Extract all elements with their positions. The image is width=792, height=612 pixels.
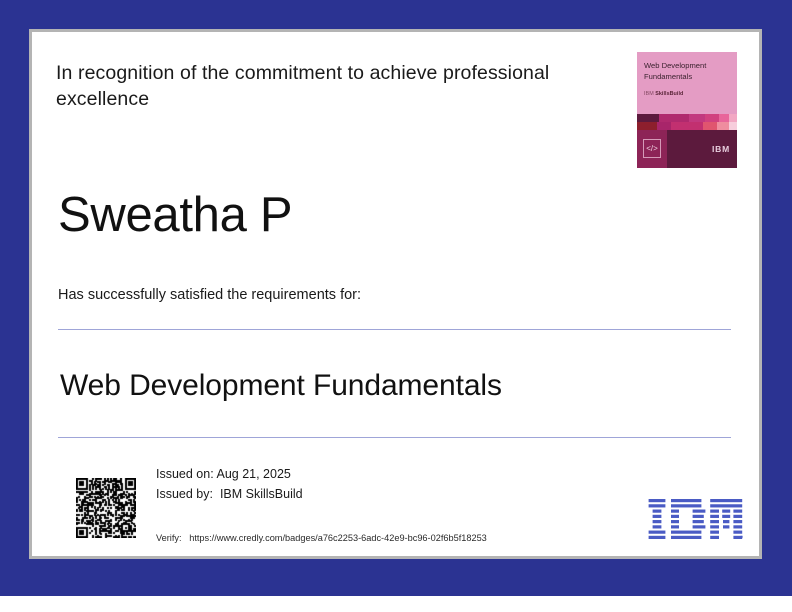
recipient-name: Sweatha P [58,187,292,243]
badge-title-text: Web Development Fundamentals [644,61,730,82]
badge-stripe-segment [705,114,719,122]
verification-qr-code[interactable] [76,478,136,538]
badge-stripe-segment [729,122,737,130]
badge-stripe-segment [637,122,657,130]
verify-url[interactable]: https://www.credly.com/badges/a76c2253-6… [189,533,487,543]
badge-stripe-row-bottom [637,122,737,130]
issued-on-line: Issued on: Aug 21, 2025 [156,464,303,484]
divider-below-credential [58,437,731,438]
badge-stripe-segment [671,122,703,130]
badge-subbrand: IBMSkillsBuild [644,91,683,97]
qr-canvas [76,478,136,538]
badge-issuer-logo: IBM [712,144,730,154]
verification-line: Verify: https://www.credly.com/badges/a7… [156,533,487,543]
issued-by-label: Issued by: [156,487,213,501]
badge-stripe-segment [717,122,729,130]
certificate-card: In recognition of the commitment to achi… [29,29,762,559]
badge-stripe-segment [703,122,717,130]
issued-by-value: IBM SkillsBuild [220,487,303,501]
certificate-outer-frame: In recognition of the commitment to achi… [0,0,792,596]
badge-skillsbuild-mark: SkillsBuild [655,91,683,97]
badge-stripe-row-top [637,114,737,122]
issuance-details: Issued on: Aug 21, 2025 Issued by: IBM S… [156,464,303,504]
badge-stripe-segment [657,122,671,130]
verify-label: Verify: [156,533,182,543]
recognition-statement: In recognition of the commitment to achi… [56,60,556,112]
divider-above-credential [58,329,731,330]
badge-stripe-segment [659,114,689,122]
code-brackets-icon: </> [643,139,661,158]
badge-stripe-segment [637,114,659,122]
credential-title: Web Development Fundamentals [60,367,502,405]
badge-ibm-mark: IBM [644,91,654,97]
issued-on-value: Aug 21, 2025 [216,467,290,481]
badge-stripe-segment [729,114,737,122]
ibm-logo [647,499,743,539]
badge-stripe-segment [689,114,705,122]
badge-stripe-band [637,114,737,130]
badge-code-glyph-box: </> [637,130,667,168]
credential-badge-image: Web Development Fundamentals IBMSkillsBu… [637,52,737,168]
issued-by-line: Issued by: IBM SkillsBuild [156,484,303,504]
badge-stripe-segment [719,114,729,122]
requirements-statement: Has successfully satisfied the requireme… [58,287,361,303]
issued-on-label: Issued on: [156,467,214,481]
